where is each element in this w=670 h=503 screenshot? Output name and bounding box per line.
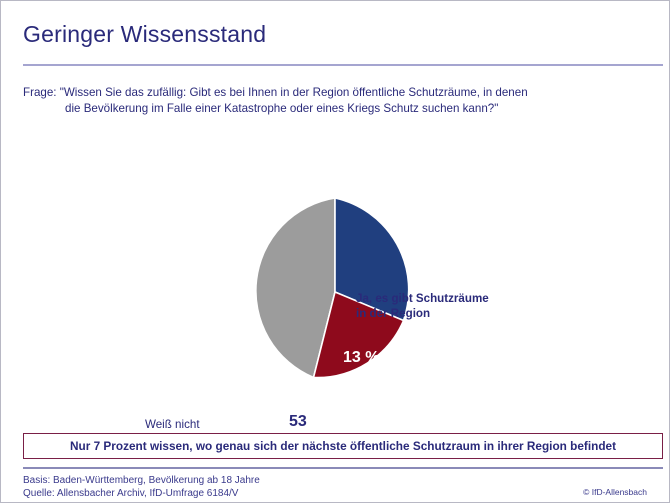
callout-ja: Ja, es gibt Schutzräume in der Region: [356, 291, 489, 321]
copyright-notice: © IfD-Allensbach: [583, 487, 647, 497]
value-label-weiss-nicht: 53: [289, 413, 307, 431]
callout-weiss-nicht: Weiß nicht: [145, 417, 200, 432]
footer-quelle: Quelle: Allensbacher Archiv, IfD-Umfrage…: [23, 487, 663, 500]
value-label-ja: 13 %: [343, 349, 379, 367]
question-line-2: die Bevölkerung im Falle einer Katastrop…: [23, 101, 653, 117]
infographic-page: Geringer Wissensstand Frage: "Wissen Sie…: [0, 0, 670, 503]
highlight-text: Nur 7 Prozent wissen, wo genau sich der …: [70, 439, 616, 453]
pie-chart: 13 % 34 53 Ja, es gibt Schutzräume in de…: [1, 141, 670, 421]
footer-divider: [23, 467, 663, 469]
survey-question: Frage: "Wissen Sie das zufällig: Gibt es…: [23, 85, 653, 116]
footer-basis: Basis: Baden-Württemberg, Bevölkerung ab…: [23, 474, 663, 487]
footer: Basis: Baden-Württemberg, Bevölkerung ab…: [23, 474, 663, 500]
question-line-1: Frage: "Wissen Sie das zufällig: Gibt es…: [23, 85, 653, 101]
page-title: Geringer Wissensstand: [23, 21, 266, 48]
title-divider: [23, 64, 663, 66]
highlight-box: Nur 7 Prozent wissen, wo genau sich der …: [23, 433, 663, 459]
